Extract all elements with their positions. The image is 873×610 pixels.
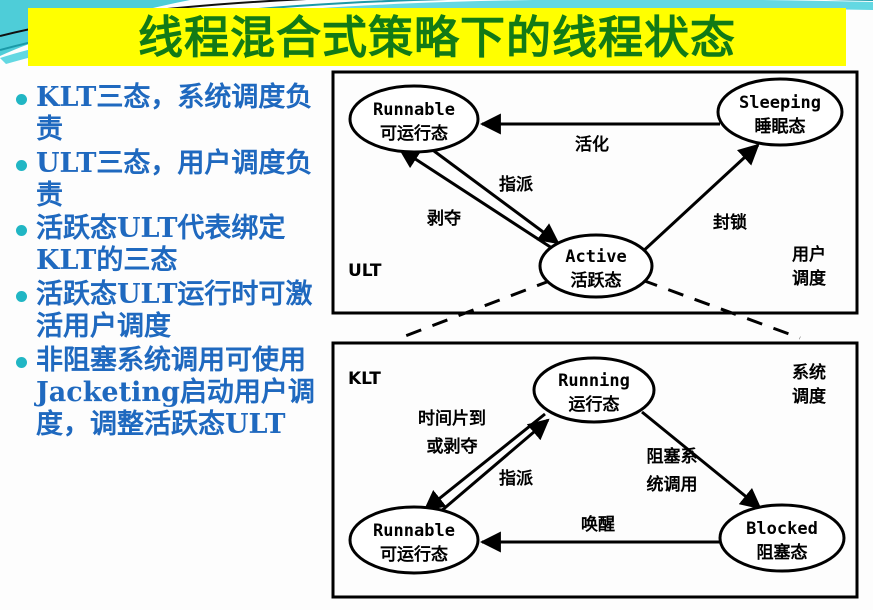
edge-label-blocking-syscall-line2: 统调用 bbox=[647, 474, 698, 495]
edge-label-preempt: 剥夺 bbox=[427, 208, 462, 229]
bullet-dot-icon bbox=[16, 291, 27, 302]
node-blocked-klt: Blocked 阻塞态 bbox=[720, 505, 844, 571]
bullet-dot-icon bbox=[16, 225, 27, 236]
node-active-label-en: Active bbox=[565, 247, 626, 267]
edge-label-activate: 活化 bbox=[575, 134, 609, 155]
bullet-list: KLT三态，系统调度负责 ULT三态，用户调度负责 活跃态ULT代表绑定KLT的… bbox=[6, 82, 336, 442]
node-active-ult: Active 活跃态 bbox=[540, 235, 652, 297]
bullet-dot-icon bbox=[16, 357, 27, 368]
edge-runnable-to-running bbox=[440, 420, 548, 512]
node-runnable-ult: Runnable 可运行态 bbox=[350, 86, 478, 152]
dashed-connector-right bbox=[642, 280, 800, 338]
page-title: 线程混合式策略下的线程状态 bbox=[28, 8, 846, 66]
node-runnable-ult-label-en: Runnable bbox=[373, 100, 455, 120]
list-item: KLT三态，系统调度负责 bbox=[6, 82, 336, 146]
node-runnable-ult-label-cn: 可运行态 bbox=[380, 123, 448, 144]
list-item: 活跃态ULT代表绑定KLT的三态 bbox=[6, 213, 336, 277]
edge-label-dispatch-klt: 指派 bbox=[499, 468, 534, 489]
node-runnable-klt: Runnable 可运行态 bbox=[350, 507, 478, 573]
edge-label-wakeup: 唤醒 bbox=[581, 514, 615, 535]
list-item-label: 非阻塞系统调用可使用Jacketing启动用户调度，调整活跃态ULT bbox=[36, 345, 336, 441]
ult-side-label-line2: 调度 bbox=[792, 268, 827, 289]
klt-side-label-line1: 系统 bbox=[792, 362, 826, 383]
node-running-label-cn: 运行态 bbox=[569, 394, 620, 415]
list-item-label: ULT三态，用户调度负责 bbox=[36, 148, 336, 212]
edge-active-to-runnable bbox=[400, 149, 558, 252]
node-sleeping-label-en: Sleeping bbox=[739, 93, 821, 113]
bullet-dot-icon bbox=[16, 160, 27, 171]
list-item: 非阻塞系统调用可使用Jacketing启动用户调度，调整活跃态ULT bbox=[6, 345, 336, 441]
thread-state-diagram: ULT 用户 调度 活化 指派 剥夺 封锁 Runnable 可运行态 Slee… bbox=[330, 62, 870, 602]
ult-side-label-line1: 用户 bbox=[792, 244, 826, 265]
list-item-label: KLT三态，系统调度负责 bbox=[36, 82, 336, 146]
edge-label-block: 封锁 bbox=[713, 212, 747, 233]
node-active-label-cn: 活跃态 bbox=[571, 270, 622, 291]
edge-label-dispatch: 指派 bbox=[499, 174, 534, 195]
edge-label-timeslice-line1: 时间片到 bbox=[418, 408, 486, 429]
node-sleeping-ult: Sleeping 睡眠态 bbox=[718, 79, 842, 145]
list-item-label: 活跃态ULT运行时可激活用户调度 bbox=[36, 279, 336, 343]
slide-canvas: 线程混合式策略下的线程状态 KLT三态，系统调度负责 ULT三态，用户调度负责 … bbox=[0, 0, 873, 610]
list-item: ULT三态，用户调度负责 bbox=[6, 148, 336, 212]
klt-side-label-line2: 调度 bbox=[792, 386, 827, 407]
edge-label-timeslice-line2: 或剥夺 bbox=[427, 436, 479, 457]
node-blocked-label-en: Blocked bbox=[746, 519, 818, 539]
list-item: 活跃态ULT运行时可激活用户调度 bbox=[6, 279, 336, 343]
bullet-dot-icon bbox=[16, 94, 27, 105]
ult-box-label: ULT bbox=[348, 261, 382, 281]
node-running-label-en: Running bbox=[558, 371, 630, 391]
klt-box-label: KLT bbox=[348, 369, 381, 389]
node-runnable-klt-label-en: Runnable bbox=[373, 521, 455, 541]
page-title-text: 线程混合式策略下的线程状态 bbox=[138, 15, 736, 60]
node-runnable-klt-label-cn: 可运行态 bbox=[380, 544, 448, 565]
node-blocked-label-cn: 阻塞态 bbox=[757, 542, 808, 563]
list-item-label: 活跃态ULT代表绑定KLT的三态 bbox=[36, 213, 336, 277]
edge-runnable-to-active bbox=[434, 151, 558, 243]
node-running-klt: Running 运行态 bbox=[534, 358, 654, 422]
dashed-connector-left bbox=[400, 280, 552, 338]
node-sleeping-label-cn: 睡眠态 bbox=[755, 116, 806, 137]
edge-active-to-sleeping bbox=[640, 145, 758, 254]
edge-label-blocking-syscall-line1: 阻塞系 bbox=[647, 446, 698, 467]
